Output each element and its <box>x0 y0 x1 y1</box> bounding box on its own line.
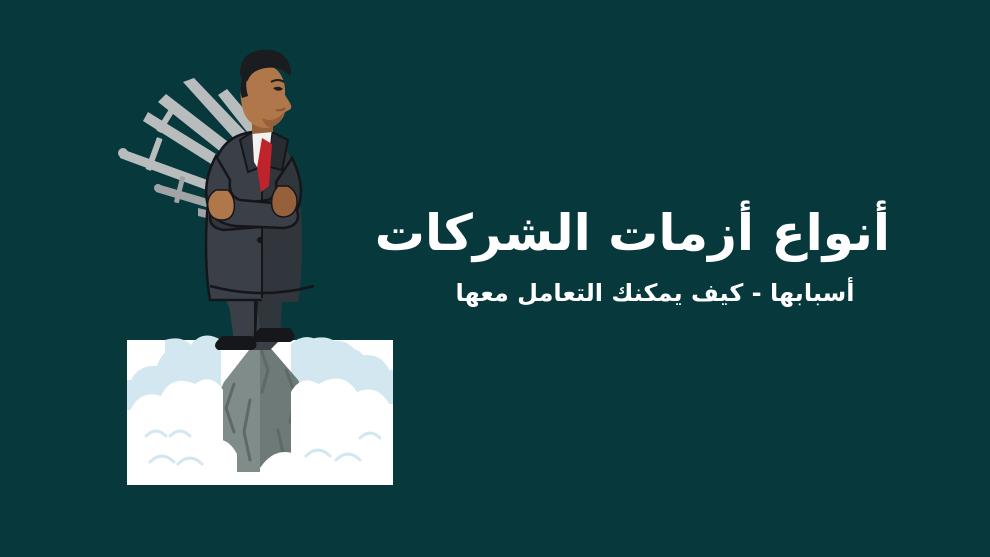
text-block: أنواع أزمات الشركات أسبابها - كيف يمكنك … <box>420 205 890 307</box>
page-subtitle: أسبابها - كيف يمكنك التعامل معها <box>420 279 890 308</box>
hero-illustration <box>110 40 420 500</box>
hand-right <box>272 186 297 217</box>
hand-left <box>208 190 235 220</box>
poster-canvas: أنواع أزمات الشركات أسبابها - كيف يمكنك … <box>0 0 990 557</box>
head <box>240 50 291 128</box>
page-title: أنواع أزمات الشركات <box>420 205 890 263</box>
mountain-scene <box>127 336 393 486</box>
